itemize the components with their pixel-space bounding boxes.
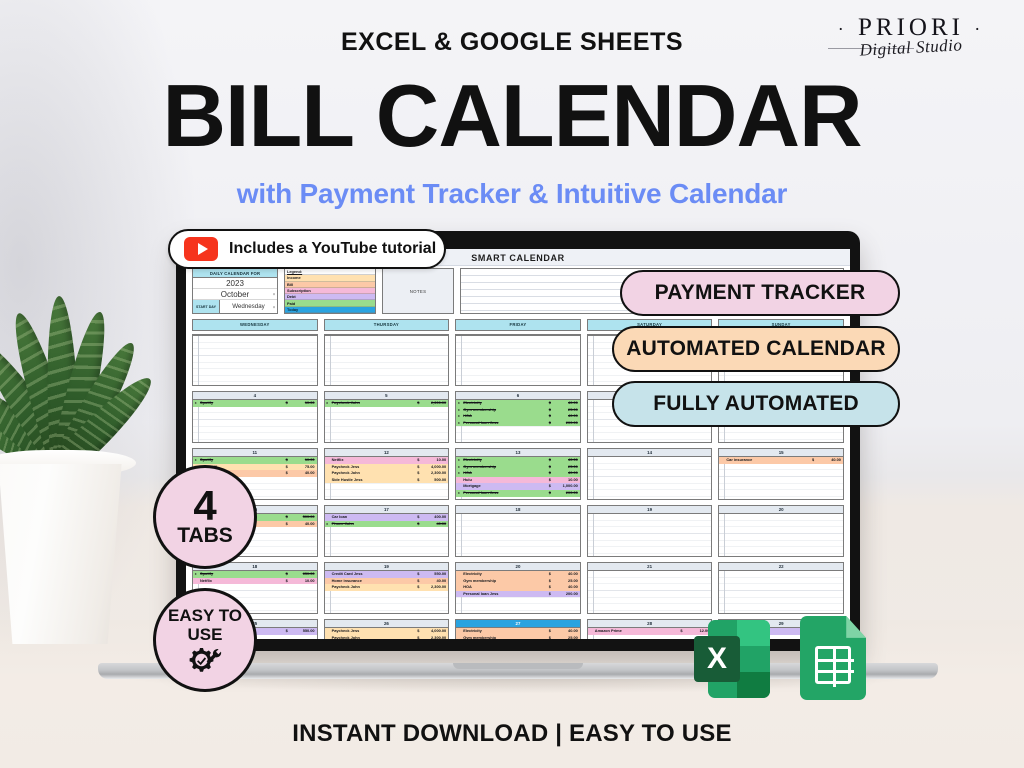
- calendar-week-row: 16xCredit card John$500.00Life insurance…: [192, 505, 844, 557]
- calendar-day-cell[interactable]: 17Car loan$400.00xPhone John$40.00: [324, 505, 450, 557]
- event-amount: 2,300.00: [426, 584, 448, 591]
- event-amount: 40.00: [295, 470, 317, 477]
- event-checkbox[interactable]: x: [457, 407, 461, 414]
- calendar-day-number: 5: [325, 392, 449, 400]
- event-amount: 25.00: [558, 407, 580, 414]
- event-amount: 40.00: [426, 578, 448, 585]
- event-checkbox[interactable]: x: [325, 400, 329, 407]
- event-currency: $: [549, 483, 558, 490]
- calendar-day-number: 14: [588, 449, 712, 457]
- event-currency: $: [549, 464, 558, 471]
- calendar-day-cell[interactable]: 20: [718, 505, 844, 557]
- event-amount: 10.00: [558, 477, 580, 484]
- calendar-day-events: Credit Card Jess$550.00Home insurance$40…: [325, 571, 449, 613]
- event-amount: 4,000.00: [426, 628, 448, 635]
- calendar-day-number: 20: [456, 563, 580, 571]
- event-amount: 10.00: [295, 457, 317, 464]
- calendar-day-events: Netflix$10.00Paycheck Jess$4,000.00Paych…: [325, 457, 449, 499]
- chevron-down-icon: ▾: [273, 292, 275, 297]
- event-currency: $: [417, 521, 426, 528]
- event-amount: 25.00: [558, 635, 580, 639]
- event-name: Side Hustle Jess: [331, 477, 418, 484]
- tabs-count-number: 4: [193, 487, 216, 525]
- event-name: Electricity: [462, 628, 549, 635]
- badge-tabs-count: 4 TABS: [153, 465, 257, 569]
- excel-letter: X: [694, 636, 740, 682]
- event-name: HOA: [462, 413, 549, 420]
- event-currency: $: [286, 628, 295, 635]
- calendar-day-events: xElectricity$40.00xGym membership$25.00x…: [456, 400, 580, 442]
- calendar-day-cell[interactable]: 4xSpotify$10.00: [192, 391, 318, 443]
- spreadsheet-body: DAILY CALENDAR FOR 2023 October ▾ START …: [192, 268, 844, 635]
- plant-pot: [0, 464, 130, 644]
- event-name: Personal loan Jess: [462, 591, 549, 598]
- event-checkbox[interactable]: x: [457, 413, 461, 420]
- calendar-day-events: [588, 571, 712, 613]
- event-checkbox[interactable]: x: [194, 457, 198, 464]
- calendar-event-row[interactable]: Gym membership$25.00: [456, 578, 580, 585]
- calendar-day-cell[interactable]: 27Electricity$40.00Gym membership$25.00H…: [455, 619, 581, 639]
- calendar-day-cell[interactable]: 6xElectricity$40.00xGym membership$25.00…: [455, 391, 581, 443]
- calendar-event-row[interactable]: Car loan$400.00: [325, 514, 449, 521]
- event-name: Home insurance: [331, 578, 418, 585]
- event-checkbox[interactable]: x: [194, 400, 198, 407]
- event-currency: $: [549, 628, 558, 635]
- calendar-event-row[interactable]: Electricity$40.00: [456, 571, 580, 578]
- event-amount: 25.00: [558, 578, 580, 585]
- event-currency: $: [812, 457, 821, 464]
- event-amount: 40.00: [558, 457, 580, 464]
- event-amount: 25.00: [558, 464, 580, 471]
- event-currency: $: [549, 635, 558, 639]
- event-currency: $: [417, 578, 426, 585]
- calendar-day-number: 6: [456, 392, 580, 400]
- event-currency: $: [417, 470, 426, 477]
- event-amount: 550.00: [426, 571, 448, 578]
- start-day-row[interactable]: START DAY Wednesday ▾: [193, 300, 277, 313]
- youtube-tutorial-label: Includes a YouTube tutorial: [229, 240, 436, 258]
- calendar-event-row[interactable]: xPaycheck John$2,300.00: [325, 400, 449, 407]
- calendar-event-row[interactable]: xPersonal loan Jess$200.00: [456, 490, 580, 497]
- calendar-event-row[interactable]: xGym membership$25.00: [456, 407, 580, 414]
- event-amount: 75.00: [295, 464, 317, 471]
- event-name: Personal loan Jess: [462, 420, 549, 427]
- calendar-event-row[interactable]: xElectricity$40.00: [456, 400, 580, 407]
- legend-item-today: Today: [285, 307, 375, 313]
- calendar-day-events: [719, 514, 843, 556]
- event-amount: 2,300.00: [426, 635, 448, 639]
- event-currency: $: [286, 470, 295, 477]
- weekday-header: FRIDAY: [455, 319, 581, 331]
- event-name: Mortgage: [462, 483, 549, 490]
- calendar-event-row[interactable]: Electricity$40.00: [456, 628, 580, 635]
- calendar-day-events: xSpotify$10.00: [193, 400, 317, 442]
- calendar-day-cell[interactable]: 14: [587, 448, 713, 500]
- event-name: Credit Card Jess: [331, 571, 418, 578]
- event-name: Paycheck Jess: [331, 628, 418, 635]
- calendar-event-row[interactable]: Paycheck Jess$4,000.00: [325, 464, 449, 471]
- calendar-day-events: xPaycheck John$2,300.00: [325, 400, 449, 442]
- event-currency: $: [417, 514, 426, 521]
- event-checkbox[interactable]: x: [457, 420, 461, 427]
- event-currency: $: [417, 400, 426, 407]
- calendar-event-row[interactable]: Netflix$10.00: [193, 578, 317, 585]
- calendar-event-row[interactable]: Gym membership$25.00: [456, 635, 580, 639]
- event-amount: 400.00: [426, 514, 448, 521]
- calendar-day-cell[interactable]: 19Credit Card Jess$550.00Home insurance$…: [324, 562, 450, 614]
- event-currency: $: [549, 571, 558, 578]
- calendar-day-cell[interactable]: [324, 334, 450, 386]
- calendar-day-cell[interactable]: 13xElectricity$40.00xGym membership$25.0…: [455, 448, 581, 500]
- month-select[interactable]: October ▾: [193, 289, 277, 300]
- calendar-day-number: 22: [719, 563, 843, 571]
- tabs-count-label: TABS: [177, 525, 233, 547]
- event-name: Spotify: [199, 457, 286, 464]
- event-amount: 40.00: [558, 413, 580, 420]
- calendar-day-events: Paycheck Jess$4,000.00Paycheck John$2,30…: [325, 628, 449, 639]
- youtube-tutorial-badge: Includes a YouTube tutorial: [168, 229, 446, 269]
- calendar-day-events: Amazon Prime$12.00: [588, 628, 712, 639]
- event-name: Spotify: [199, 400, 286, 407]
- event-name: Electricity: [462, 457, 549, 464]
- event-name: Car insurance: [725, 457, 812, 464]
- calendar-day-number: 20: [719, 506, 843, 514]
- month-value: October: [221, 290, 249, 299]
- calendar-day-number: 17: [325, 506, 449, 514]
- event-name: HOA: [462, 584, 549, 591]
- calendar-day-cell[interactable]: 18: [455, 505, 581, 557]
- calendar-event-row[interactable]: Netflix$10.00: [325, 457, 449, 464]
- event-checkbox[interactable]: x: [457, 490, 461, 497]
- event-amount: 200.00: [558, 490, 580, 497]
- event-currency: $: [549, 457, 558, 464]
- event-name: Hulu: [462, 477, 549, 484]
- calendar-day-number: 12: [325, 449, 449, 457]
- event-name: Electricity: [462, 571, 549, 578]
- calendar-day-number: 18: [456, 506, 580, 514]
- event-currency: $: [417, 477, 426, 484]
- gear-wrench-check-icon: [185, 646, 225, 674]
- event-amount: 200.00: [558, 591, 580, 598]
- event-checkbox[interactable]: x: [457, 464, 461, 471]
- calendar-day-events: [193, 336, 317, 385]
- easy-to-use-line2: USE: [188, 625, 223, 644]
- calendar-event-row[interactable]: HOA$40.00: [456, 584, 580, 591]
- event-amount: 40.00: [558, 571, 580, 578]
- calendar-day-cell[interactable]: 19: [587, 505, 713, 557]
- event-currency: $: [286, 457, 295, 464]
- event-amount: 500.00: [295, 514, 317, 521]
- potted-plant: [0, 352, 163, 682]
- calendar-day-number: 4: [193, 392, 317, 400]
- event-checkbox[interactable]: x: [325, 521, 329, 528]
- event-name: Paycheck John: [331, 470, 418, 477]
- weekday-header: WEDNESDAY: [192, 319, 318, 331]
- laptop-base-notch: [453, 663, 583, 669]
- daily-calendar-header: DAILY CALENDAR FOR: [193, 269, 277, 278]
- calendar-day-cell[interactable]: [455, 334, 581, 386]
- event-name: Personal loan Jess: [462, 490, 549, 497]
- calendar-day-cell[interactable]: 20Electricity$40.00Gym membership$25.00H…: [455, 562, 581, 614]
- start-day-label: START DAY: [193, 300, 220, 313]
- calendar-event-row[interactable]: xPhone John$40.00: [325, 521, 449, 528]
- event-name: Phone John: [331, 521, 418, 528]
- event-currency: $: [680, 628, 689, 635]
- calendar-event-row[interactable]: Paycheck John$2,300.00: [325, 584, 449, 591]
- easy-to-use-line1: EASY TO: [168, 606, 242, 625]
- event-amount: 40.00: [558, 628, 580, 635]
- calendar-day-events: Car loan$400.00xPhone John$40.00: [325, 514, 449, 556]
- notes-label: NOTES: [382, 268, 454, 314]
- event-name: Paycheck John: [331, 635, 418, 639]
- event-name: Electricity: [462, 400, 549, 407]
- start-day-value: Wednesday: [220, 303, 277, 310]
- year-field[interactable]: 2023: [193, 278, 277, 289]
- calendar-event-row[interactable]: Credit Card Jess$550.00: [325, 571, 449, 578]
- calendar-day-number: 27: [456, 620, 580, 628]
- calendar-day-events: [719, 571, 843, 613]
- calendar-day-events: Electricity$40.00Gym membership$25.00HOA…: [456, 628, 580, 639]
- event-amount: 40.00: [558, 400, 580, 407]
- calendar-event-row[interactable]: xHOA$40.00: [456, 470, 580, 477]
- calendar-day-cell[interactable]: 5xPaycheck John$2,300.00: [324, 391, 450, 443]
- calendar-day-number: 15: [719, 449, 843, 457]
- badge-easy-to-use: EASY TO USE: [153, 588, 257, 692]
- event-checkbox[interactable]: x: [457, 457, 461, 464]
- event-amount: 40.00: [558, 470, 580, 477]
- calendar-day-events: [456, 336, 580, 385]
- page-title: BILL CALENDAR: [0, 72, 1024, 160]
- calendar-day-events: [588, 514, 712, 556]
- event-currency: $: [549, 420, 558, 427]
- event-amount: 550.00: [295, 628, 317, 635]
- event-currency: $: [549, 490, 558, 497]
- event-name: Gym membership: [462, 464, 549, 471]
- event-amount: 40.00: [558, 584, 580, 591]
- calendar-day-events: xElectricity$40.00xGym membership$25.00x…: [456, 457, 580, 499]
- event-amount: 1,000.00: [558, 483, 580, 490]
- event-name: Paycheck Jess: [331, 464, 418, 471]
- event-currency: $: [417, 457, 426, 464]
- event-checkbox[interactable]: x: [457, 400, 461, 407]
- calendar-event-row[interactable]: Personal loan Jess$200.00: [456, 591, 580, 598]
- event-name: Gym membership: [462, 578, 549, 585]
- calendar-day-number: 19: [588, 506, 712, 514]
- event-currency: $: [417, 628, 426, 635]
- event-currency: $: [417, 464, 426, 471]
- calendar-grid: 1xSide Hustle John$700.004xSpotify$10.00…: [192, 334, 844, 639]
- google-sheets-icon: [800, 616, 866, 700]
- event-amount: 40.00: [295, 521, 317, 528]
- event-amount: 200.00: [558, 420, 580, 427]
- calendar-week-row: 18xSpotify$650.00Netflix$10.0019Credit C…: [192, 562, 844, 614]
- event-name: Gym membership: [462, 635, 549, 639]
- event-amount: 10.00: [426, 457, 448, 464]
- weekday-header: THURSDAY: [324, 319, 450, 331]
- calendar-event-row[interactable]: xSpotify$650.00: [193, 571, 317, 578]
- calendar-event-row[interactable]: Car insurance$40.00: [719, 457, 843, 464]
- youtube-play-icon: [184, 237, 218, 261]
- calendar-event-row[interactable]: Paycheck John$2,300.00: [325, 635, 449, 639]
- calendar-day-cell[interactable]: 15Car insurance$40.00: [718, 448, 844, 500]
- event-currency: $: [549, 578, 558, 585]
- legend-panel: Legend: Income Bill Subscription Debt Pa…: [284, 268, 376, 314]
- calendar-day-number: 13: [456, 449, 580, 457]
- event-currency: $: [549, 584, 558, 591]
- calendar-day-cell[interactable]: 12Netflix$10.00Paycheck Jess$4,000.00Pay…: [324, 448, 450, 500]
- calendar-day-number: 26: [325, 620, 449, 628]
- calendar-event-row[interactable]: Amazon Prime$12.00: [588, 628, 712, 635]
- event-currency: $: [286, 521, 295, 528]
- event-currency: $: [549, 470, 558, 477]
- calendar-day-cell[interactable]: 26Paycheck Jess$4,000.00Paycheck John$2,…: [324, 619, 450, 639]
- calendar-day-number: 28: [588, 620, 712, 628]
- event-currency: $: [549, 413, 558, 420]
- feature-pill-automated-calendar: AUTOMATED CALENDAR: [612, 326, 900, 372]
- calendar-week-row: 11xSpotify$10.00Water bill$75.00Internet…: [192, 448, 844, 500]
- calendar-event-row[interactable]: xElectricity$40.00: [456, 457, 580, 464]
- calendar-event-row[interactable]: xGym membership$25.00: [456, 464, 580, 471]
- calendar-event-row[interactable]: Hulu$10.00: [456, 477, 580, 484]
- event-name: Netflix: [331, 457, 418, 464]
- calendar-event-row[interactable]: xSpotify$10.00: [193, 400, 317, 407]
- event-currency: $: [286, 578, 295, 585]
- calendar-day-events: [325, 336, 449, 385]
- event-amount: 10.00: [295, 578, 317, 585]
- event-amount: 40.00: [821, 457, 843, 464]
- event-currency: $: [549, 591, 558, 598]
- event-amount: 10.00: [295, 400, 317, 407]
- calendar-event-row[interactable]: Side Hustle Jess$500.00: [325, 477, 449, 484]
- calendar-event-row[interactable]: Home insurance$40.00: [325, 578, 449, 585]
- calendar-day-events: [456, 514, 580, 556]
- feature-pill-payment-tracker: PAYMENT TRACKER: [620, 270, 900, 316]
- event-currency: $: [417, 571, 426, 578]
- event-amount: 2,300.00: [426, 400, 448, 407]
- calendar-event-row[interactable]: xSpotify$10.00: [193, 457, 317, 464]
- event-name: Spotify: [199, 571, 286, 578]
- event-checkbox[interactable]: x: [194, 571, 198, 578]
- calendar-day-cell[interactable]: 21: [587, 562, 713, 614]
- footer-text: INSTANT DOWNLOAD | EASY TO USE: [0, 720, 1024, 748]
- event-name: Paycheck John: [331, 584, 418, 591]
- calendar-day-number: 19: [325, 563, 449, 571]
- calendar-event-row[interactable]: Paycheck Jess$4,000.00: [325, 628, 449, 635]
- event-currency: $: [286, 514, 295, 521]
- brand-logo: · PRIORI · Digital Studio: [816, 14, 1006, 76]
- calendar-day-number: 11: [193, 449, 317, 457]
- calendar-event-row[interactable]: xPersonal loan Jess$200.00: [456, 420, 580, 427]
- event-name: HOA: [462, 470, 549, 477]
- event-amount: 650.00: [295, 571, 317, 578]
- event-name: Netflix: [199, 578, 286, 585]
- calendar-day-events: Electricity$40.00Gym membership$25.00HOA…: [456, 571, 580, 613]
- calendar-event-row[interactable]: Paycheck John$2,300.00: [325, 470, 449, 477]
- event-currency: $: [286, 464, 295, 471]
- microsoft-excel-icon: X: [694, 620, 770, 698]
- event-name: Gym membership: [462, 407, 549, 414]
- daily-calendar-panel[interactable]: DAILY CALENDAR FOR 2023 October ▾ START …: [192, 268, 278, 314]
- event-amount: 2,300.00: [426, 470, 448, 477]
- calendar-day-number: 21: [588, 563, 712, 571]
- calendar-day-events: Car insurance$40.00: [719, 457, 843, 499]
- page-subtitle: with Payment Tracker & Intuitive Calenda…: [0, 178, 1024, 210]
- event-currency: $: [549, 407, 558, 414]
- event-checkbox[interactable]: x: [457, 470, 461, 477]
- calendar-day-events: [588, 457, 712, 499]
- event-currency: $: [549, 400, 558, 407]
- brand-dot-left: ·: [838, 19, 848, 39]
- event-name: Car loan: [331, 514, 418, 521]
- calendar-event-row[interactable]: xHOA$40.00: [456, 413, 580, 420]
- event-currency: $: [549, 477, 558, 484]
- sheets-table-glyph: [815, 646, 851, 684]
- event-amount: 4,000.00: [426, 464, 448, 471]
- calendar-day-cell[interactable]: 22: [718, 562, 844, 614]
- event-amount: 40.00: [426, 521, 448, 528]
- chevron-down-icon: ▾: [273, 304, 275, 309]
- event-amount: 500.00: [426, 477, 448, 484]
- event-currency: $: [286, 571, 295, 578]
- calendar-event-row[interactable]: Mortgage$1,000.00: [456, 483, 580, 490]
- event-currency: $: [417, 635, 426, 639]
- event-currency: $: [286, 400, 295, 407]
- event-name: Amazon Prime: [594, 628, 681, 635]
- event-currency: $: [417, 584, 426, 591]
- event-name: Paycheck John: [331, 400, 418, 407]
- calendar-day-cell[interactable]: [192, 334, 318, 386]
- feature-pill-fully-automated: FULLY AUTOMATED: [612, 381, 900, 427]
